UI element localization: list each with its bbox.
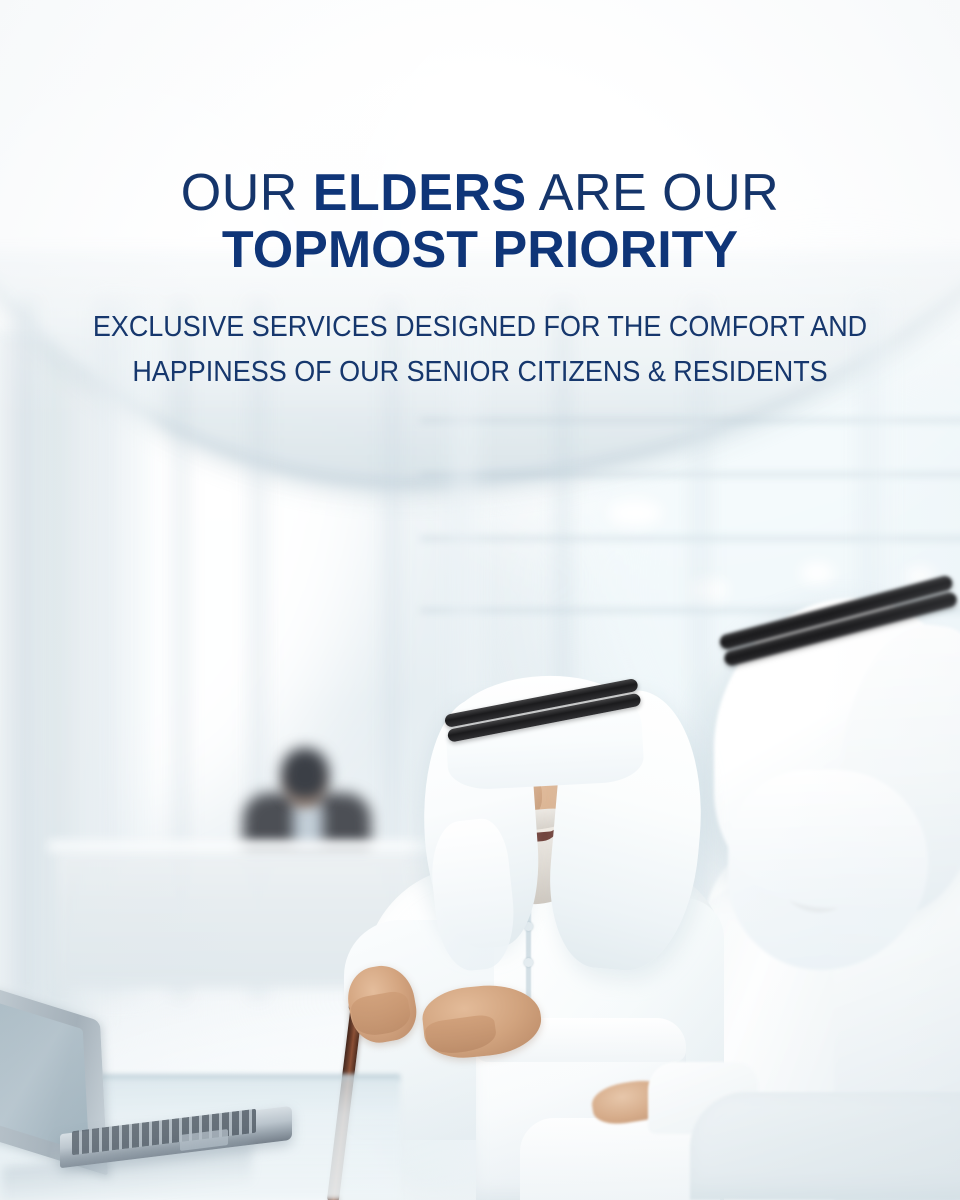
lobby-photograph (0, 0, 960, 1200)
poster-canvas: OUR ELDERS ARE OUR TOPMOST PRIORITY EXCL… (0, 0, 960, 1200)
silver-laptop (0, 1002, 292, 1182)
